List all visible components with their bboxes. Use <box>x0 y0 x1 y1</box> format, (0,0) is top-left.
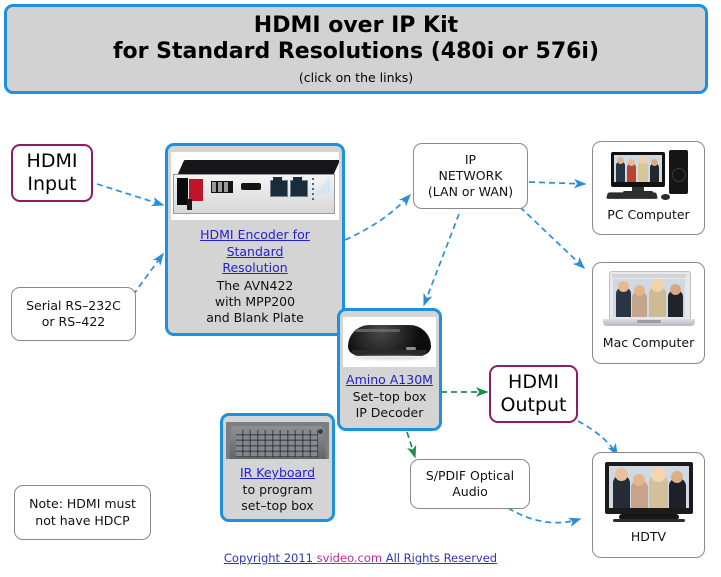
hdmi-input-line1: HDMI <box>27 150 78 173</box>
set-top-box-desc-line1: Set–top box <box>353 389 427 405</box>
copyright-svideo-link[interactable]: svideo.com <box>317 551 382 565</box>
pc-computer-node: PC Computer <box>592 141 705 235</box>
page-header: HDMI over IP Kit for Standard Resolution… <box>4 4 708 94</box>
copyright-part3: All Rights Reserved <box>382 551 497 565</box>
serial-note-box: Serial RS–232C or RS–422 <box>11 287 136 341</box>
serial-note-line2: or RS–422 <box>26 314 121 330</box>
ir-keyboard-link[interactable]: IR Keyboard <box>240 465 315 482</box>
ip-network-box: IP NETWORK (LAN or WAN) <box>413 143 528 209</box>
page-title-line2: for Standard Resolutions (480i or 576i) <box>113 39 599 65</box>
hdmi-encoder-node[interactable]: HDMI Encoder for Standard Resolution The… <box>165 143 345 336</box>
hdtv-caption: HDTV <box>631 529 666 544</box>
mac-computer-caption: Mac Computer <box>603 335 694 350</box>
page-subtitle: (click on the links) <box>299 70 413 85</box>
hdmi-input-box: HDMI Input <box>11 144 93 202</box>
hdtv-node: HDTV <box>592 452 705 558</box>
hdmi-encoder-desc-line1: The AVN422 <box>206 278 304 294</box>
hdmi-output-line2: Output <box>501 394 567 417</box>
hdmi-encoder-photo <box>171 152 339 220</box>
ir-keyboard-desc-line2: set–top box <box>241 498 313 514</box>
ir-keyboard-description: to program set–top box <box>241 482 313 515</box>
laptop-photo <box>599 269 699 331</box>
spdif-audio-box: S/PDIF Optical Audio <box>410 459 530 509</box>
ip-network-line3: (LAN or WAN) <box>428 184 513 200</box>
amino-a130m-link[interactable]: Amino A130M <box>346 372 433 389</box>
spdif-line1: S/PDIF Optical <box>426 468 514 484</box>
hdcp-note-line2: not have HDCP <box>29 513 136 529</box>
copyright-line[interactable]: Copyright 2011 svideo.com All Rights Res… <box>0 551 721 565</box>
set-top-box-description: Set–top box IP Decoder <box>353 389 427 422</box>
hdmi-encoder-link-line3: Resolution <box>222 260 287 275</box>
ip-network-line2: NETWORK <box>428 168 513 184</box>
ip-network-line1: IP <box>428 152 513 168</box>
hdmi-encoder-link[interactable]: HDMI Encoder for Standard Resolution <box>200 227 310 277</box>
page-title: HDMI over IP Kit for Standard Resolution… <box>113 13 599 65</box>
hdmi-output-box: HDMI Output <box>489 365 578 423</box>
hdmi-input-line2: Input <box>27 173 78 196</box>
hdmi-encoder-link-line2: Standard <box>227 244 284 259</box>
pc-computer-caption: PC Computer <box>607 207 689 222</box>
serial-note-line1: Serial RS–232C <box>26 298 121 314</box>
set-top-box-node[interactable]: Amino A130M Set–top box IP Decoder <box>337 308 442 431</box>
ir-keyboard-desc-line1: to program <box>241 482 313 498</box>
ir-keyboard-node[interactable]: IR Keyboard to program set–top box <box>220 413 335 522</box>
hdmi-encoder-description: The AVN422 with MPP200 and Blank Plate <box>206 278 304 327</box>
desktop-pc-photo <box>599 148 699 203</box>
hdcp-note-line1: Note: HDMI must <box>29 496 136 512</box>
hdmi-output-line1: HDMI <box>501 371 567 394</box>
spdif-line2: Audio <box>426 484 514 500</box>
set-top-box-desc-line2: IP Decoder <box>353 405 427 421</box>
hdmi-encoder-link-line1: HDMI Encoder for <box>200 227 310 242</box>
mac-computer-node: Mac Computer <box>592 262 705 364</box>
page-title-line1: HDMI over IP Kit <box>113 13 599 39</box>
set-top-box-photo <box>343 317 436 367</box>
hdcp-note-box: Note: HDMI must not have HDCP <box>14 485 151 540</box>
hdmi-encoder-desc-line3: and Blank Plate <box>206 310 304 326</box>
copyright-part1: Copyright 2011 <box>224 551 317 565</box>
ir-keyboard-photo <box>226 422 329 459</box>
diagram-canvas: HDMI over IP Kit for Standard Resolution… <box>0 0 721 577</box>
hdmi-encoder-desc-line2: with MPP200 <box>206 294 304 310</box>
hdtv-photo <box>599 459 699 525</box>
